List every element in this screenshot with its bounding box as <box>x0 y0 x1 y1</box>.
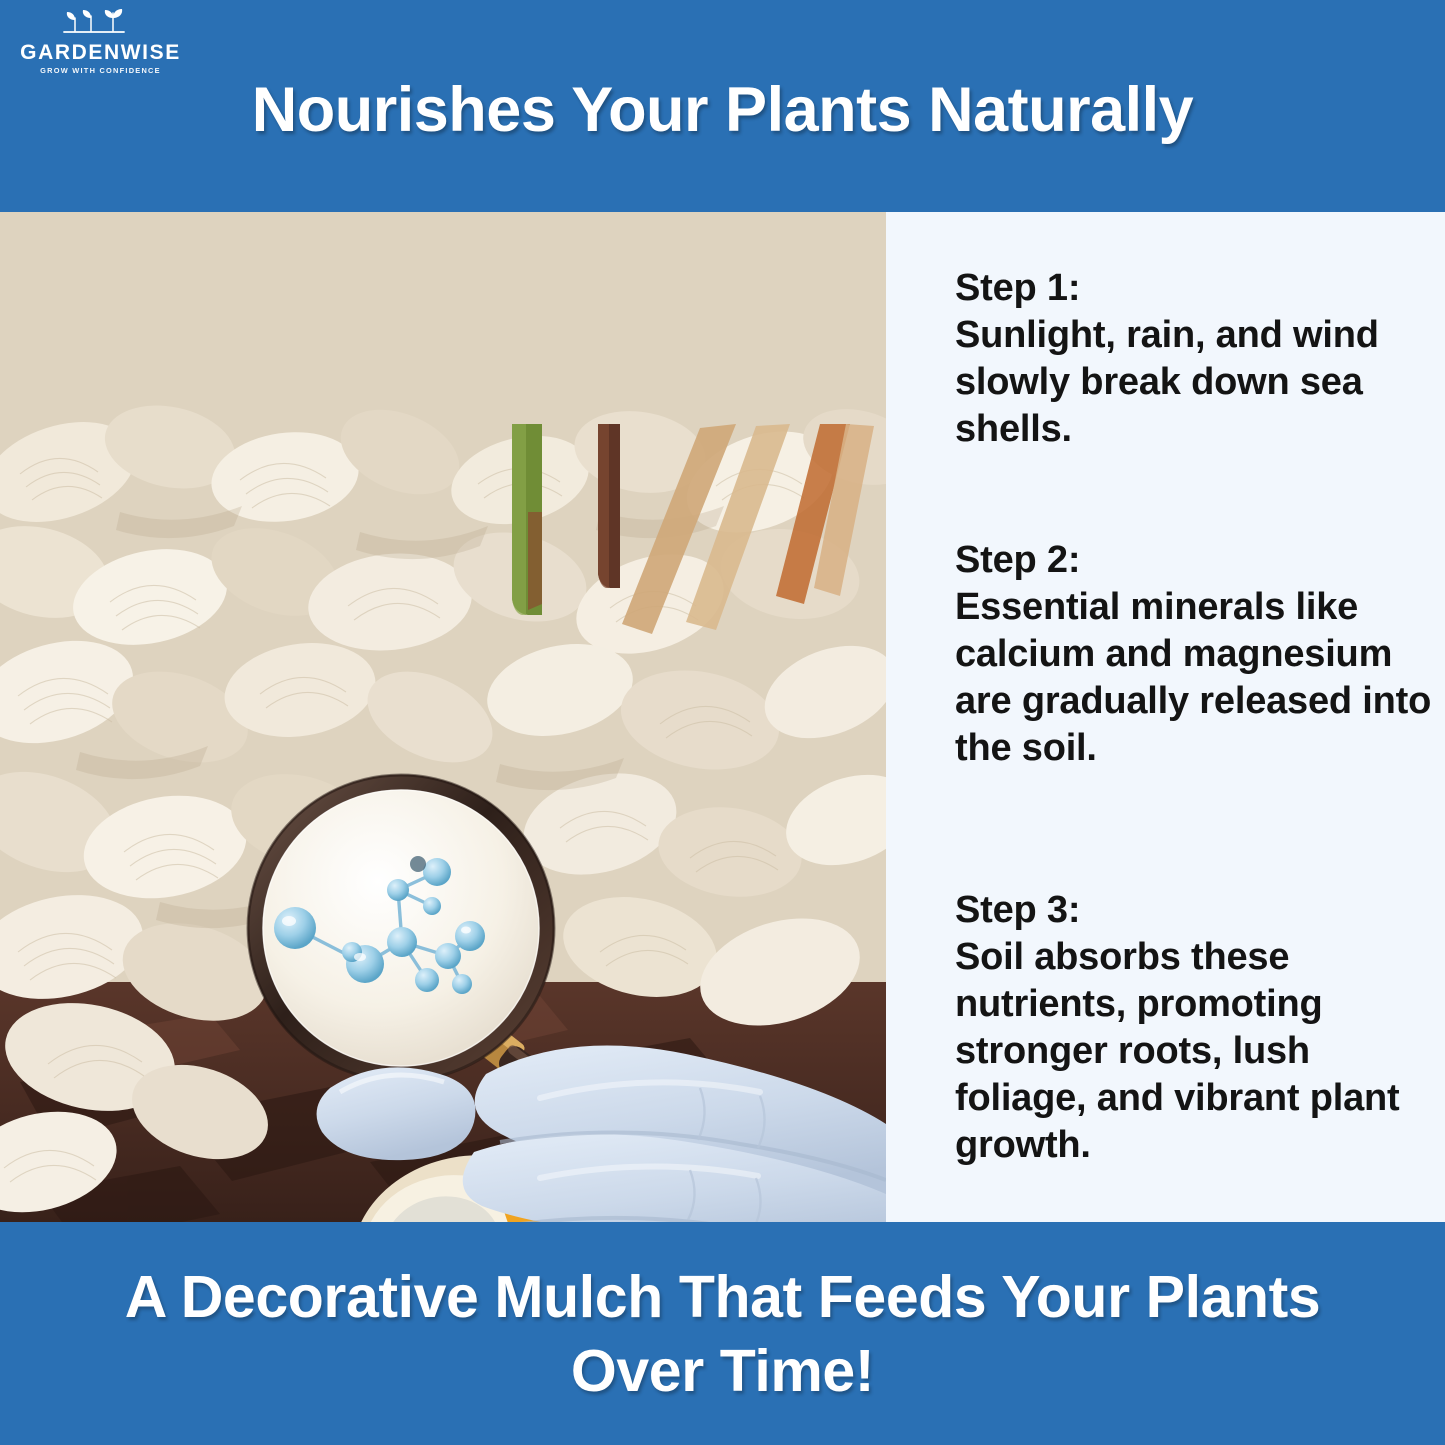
step-3-body: Soil absorbs these nutrients, promoting … <box>955 934 1440 1169</box>
infographic-page: GARDENWISE GROW WITH CONFIDENCE Nourishe… <box>0 0 1445 1445</box>
page-headline: Nourishes Your Plants Naturally <box>0 74 1445 146</box>
header-banner: GARDENWISE GROW WITH CONFIDENCE Nourishe… <box>0 0 1445 212</box>
step-2-heading: Step 2: <box>955 537 1440 584</box>
steps-panel: Step 1: Sunlight, rain, and wind slowly … <box>886 212 1445 1222</box>
step-3-block: Step 3: Soil absorbs these nutrients, pr… <box>955 887 1440 1169</box>
footer-line-1: A Decorative Mulch That Feeds Your Plant… <box>0 1260 1445 1334</box>
brand-wordmark: GARDENWISE <box>20 40 181 65</box>
step-1-block: Step 1: Sunlight, rain, and wind slowly … <box>955 265 1440 453</box>
step-2-body: Essential minerals like calcium and magn… <box>955 584 1440 772</box>
brand-logo: GARDENWISE GROW WITH CONFIDENCE <box>18 8 183 82</box>
footer-banner: A Decorative Mulch That Feeds Your Plant… <box>0 1222 1445 1445</box>
step-2-block: Step 2: Essential minerals like calcium … <box>955 537 1440 772</box>
photo-illustration <box>0 212 886 1222</box>
step-3-heading: Step 3: <box>955 887 1440 934</box>
product-photo <box>0 212 886 1222</box>
three-sprouts-icon <box>58 8 144 40</box>
step-1-body: Sunlight, rain, and wind slowly break do… <box>955 312 1440 453</box>
step-1-heading: Step 1: <box>955 265 1440 312</box>
footer-line-2: Over Time! <box>0 1334 1445 1408</box>
footer-tagline: A Decorative Mulch That Feeds Your Plant… <box>0 1260 1445 1408</box>
